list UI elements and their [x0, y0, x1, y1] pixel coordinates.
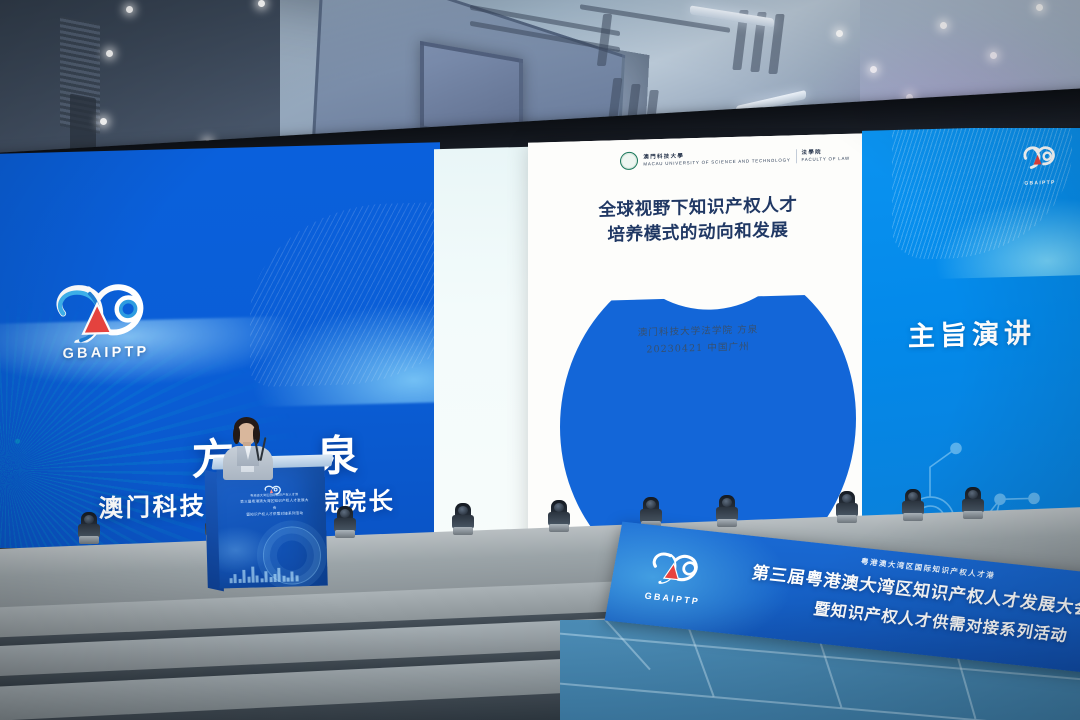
- slide-logo-divider: [796, 149, 797, 163]
- ceiling-downlight: [100, 118, 107, 125]
- slide-org-unit-en: FACULTY OF LAW: [802, 156, 850, 162]
- moving-head-light: [452, 503, 474, 535]
- moving-head-light: [962, 487, 984, 519]
- must-university-seal-icon: [620, 152, 638, 171]
- podium-skyline-graphic: [229, 563, 317, 583]
- keynote-gbaiptp-logo: GBAIPTP: [1014, 144, 1066, 187]
- moving-head-light: [716, 495, 738, 527]
- keynote-title: 主旨演讲: [862, 310, 1080, 355]
- gbaiptp-logo-icon: [46, 278, 166, 343]
- led-video-wall: 澳門科技大學 MACAU UNIVERSITY OF SCIENCE AND T…: [0, 128, 1080, 548]
- slide-org-unit: 法學院 FACULTY OF LAW: [802, 147, 850, 163]
- floor-tile-line: [569, 620, 650, 670]
- podium-event-text: 粤港澳大湾区国际知识产权人才港 第三届粤港澳大湾区知识产权人才发展大会 暨知识产…: [239, 492, 310, 518]
- led-panel-divider-band: [434, 147, 530, 548]
- podium-front-panel: 粤港澳大湾区国际知识产权人才港 第三届粤港澳大湾区知识产权人才发展大会 暨知识产…: [216, 464, 327, 589]
- gbaiptp-logo-icon: [643, 545, 712, 591]
- speaker-person: [220, 415, 276, 475]
- presentation-slide: 澳門科技大學 MACAU UNIVERSITY OF SCIENCE AND T…: [528, 133, 868, 548]
- conference-stage-photo: 澳門科技大學 MACAU UNIVERSITY OF SCIENCE AND T…: [0, 0, 1080, 720]
- moving-head-light: [902, 489, 924, 521]
- podium-line-3: 暨知识产权人才供需对接系列活动: [240, 510, 310, 518]
- slide-org-name: 澳門科技大學 MACAU UNIVERSITY OF SCIENCE AND T…: [643, 149, 790, 168]
- moving-head-light: [78, 512, 100, 544]
- gbaiptp-logo-icon: [1020, 144, 1060, 175]
- speaker-hair-left: [233, 427, 240, 444]
- ceiling-downlight: [106, 50, 113, 57]
- floor-tile-line: [560, 681, 1080, 720]
- banner-gbaiptp-logo: GBAIPTP: [627, 543, 726, 608]
- moving-head-light: [334, 506, 356, 538]
- led-panel-keynote: GBAIPTP 主旨演讲: [862, 128, 1080, 548]
- ceiling-downlight: [126, 6, 133, 13]
- wall-gbaiptp-wordmark: GBAIPTP: [46, 343, 166, 362]
- ceiling-downlight: [258, 0, 265, 7]
- moving-head-light: [548, 500, 570, 532]
- slide-title: 全球视野下知识产权人才 培养模式的动向和发展: [548, 192, 848, 250]
- moving-head-light: [836, 491, 858, 523]
- wall-gbaiptp-logo: GBAIPTP: [46, 278, 166, 362]
